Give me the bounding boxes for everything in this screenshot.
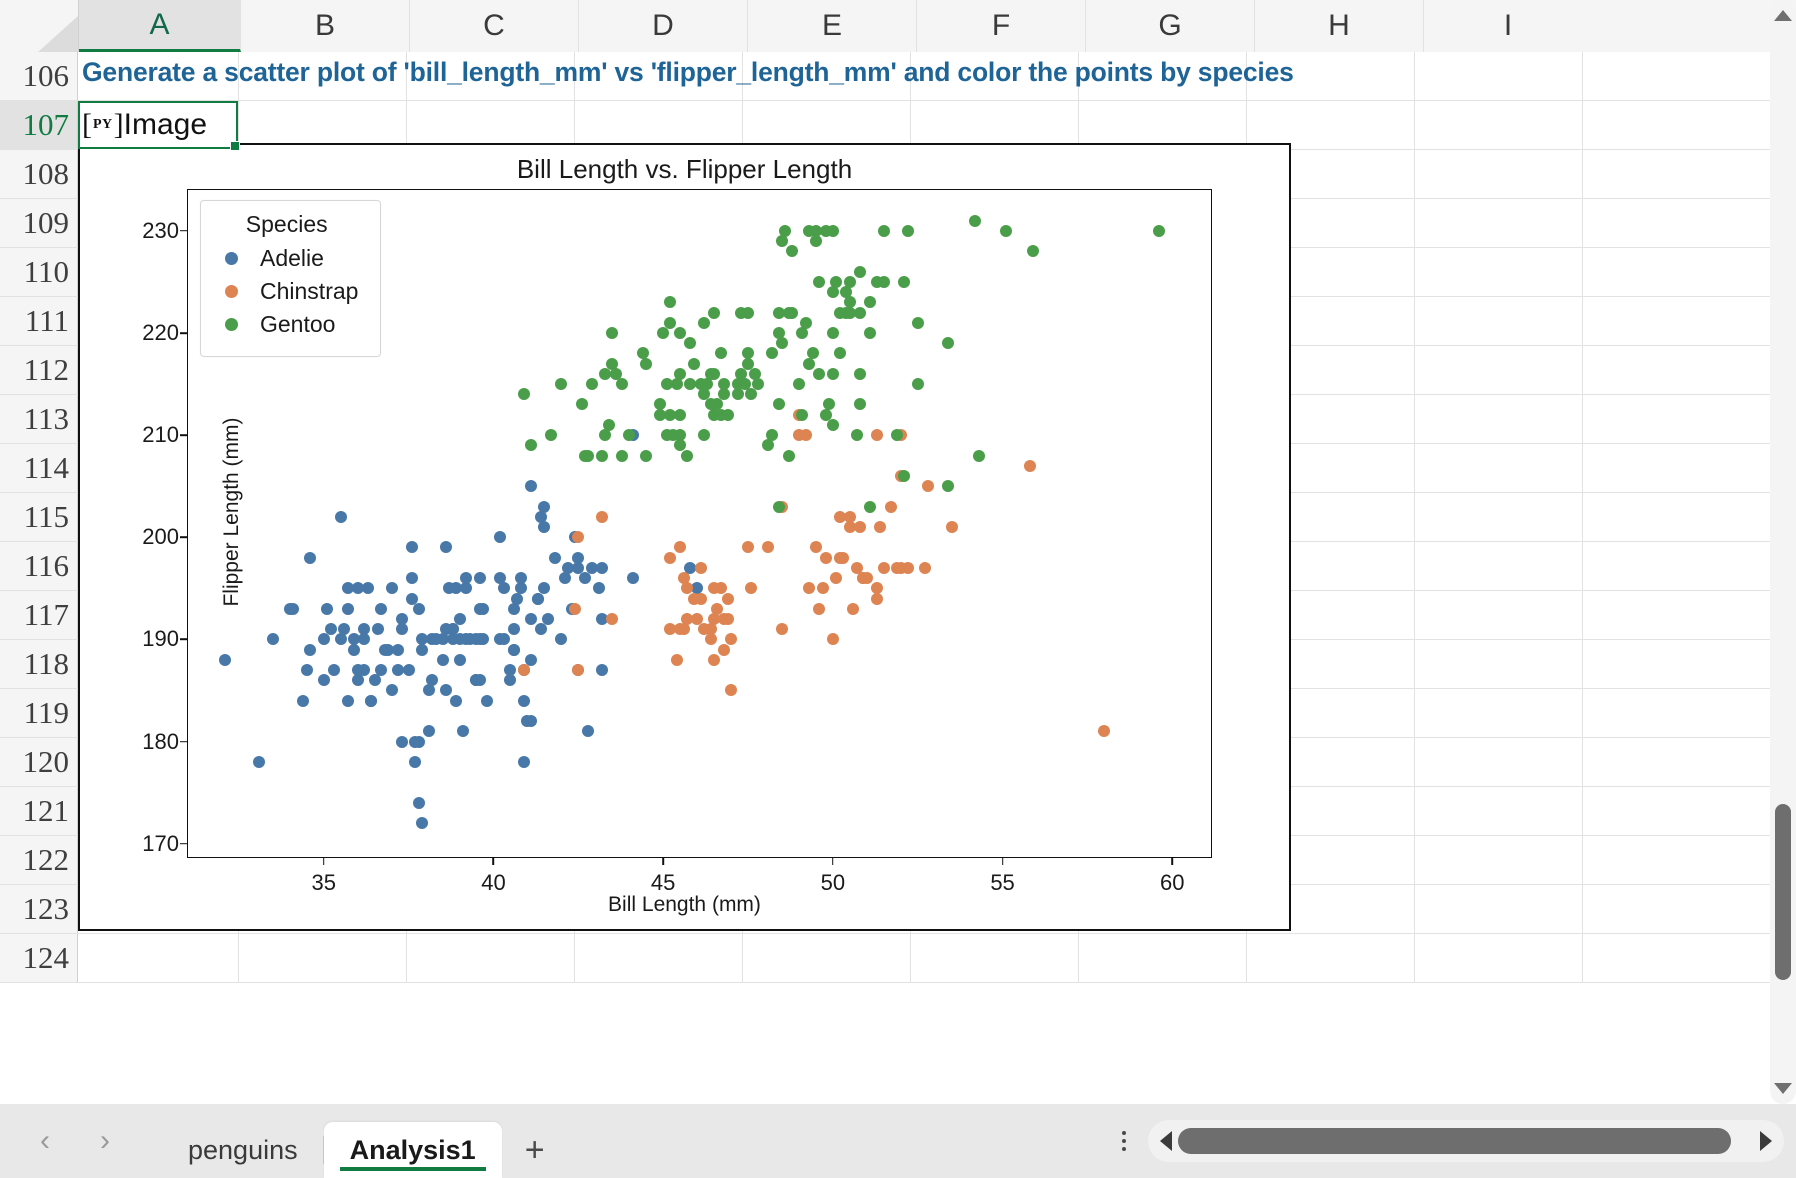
scatter-point-gentoo — [827, 225, 839, 237]
cell-F124[interactable] — [911, 934, 1079, 982]
row-header-108[interactable]: 108 — [0, 150, 78, 198]
row-header-116[interactable]: 116 — [0, 542, 78, 590]
scatter-point-chinstrap — [725, 684, 737, 696]
scatter-point-gentoo — [545, 429, 557, 441]
cell-C124[interactable] — [407, 934, 575, 982]
scatter-point-gentoo — [762, 439, 774, 451]
scatter-point-adelie — [440, 684, 452, 696]
scatter-point-adelie — [538, 501, 550, 513]
cell-I106[interactable] — [1415, 52, 1583, 100]
legend-title: Species — [215, 211, 358, 238]
prev-sheet-arrow-icon[interactable]: ‹ — [30, 1120, 60, 1162]
scatter-point-adelie — [494, 531, 506, 543]
active-tab-underline — [340, 1167, 486, 1171]
scatter-point-chinstrap — [674, 541, 686, 553]
scatter-point-chinstrap — [885, 501, 897, 513]
scatter-point-adelie — [525, 613, 537, 625]
column-header-a[interactable]: A — [79, 0, 241, 52]
scatter-point-gentoo — [827, 286, 839, 298]
cell-H107[interactable] — [1247, 101, 1415, 149]
cell-I112[interactable] — [1415, 346, 1583, 394]
sheet-tab-penguins[interactable]: penguins — [162, 1122, 324, 1178]
scatter-point-chinstrap — [1098, 725, 1110, 737]
column-header-f[interactable]: F — [917, 0, 1086, 52]
scatter-point-gentoo — [902, 225, 914, 237]
scatter-point-chinstrap — [800, 429, 812, 441]
scatter-point-adelie — [582, 725, 594, 737]
scatter-point-gentoo — [586, 378, 598, 390]
row-header-119[interactable]: 119 — [0, 689, 78, 737]
sheet-tab-label: Analysis1 — [350, 1135, 476, 1166]
row-header-117[interactable]: 117 — [0, 591, 78, 639]
scatter-point-gentoo — [776, 337, 788, 349]
scatter-point-gentoo — [773, 501, 785, 513]
scatter-point-adelie — [437, 654, 449, 666]
cell-I109[interactable] — [1415, 199, 1583, 247]
legend-label: Gentoo — [260, 311, 335, 338]
scatter-point-chinstrap — [678, 623, 690, 635]
cell-E124[interactable] — [743, 934, 911, 982]
scatter-point-adelie — [287, 603, 299, 615]
scatter-point-adelie — [477, 633, 489, 645]
scatter-point-gentoo — [623, 429, 635, 441]
bottom-bar-right — [1100, 1104, 1796, 1178]
scatter-point-gentoo — [864, 501, 876, 513]
scatter-point-adelie — [301, 664, 313, 676]
scatter-point-adelie — [409, 756, 421, 768]
sheet-nav-arrows: ‹ › — [0, 1104, 120, 1178]
scatter-point-chinstrap — [817, 582, 829, 594]
y-tick-label: 200 — [142, 524, 179, 550]
sheet-tabs: penguinsAnalysis1 — [162, 1104, 502, 1178]
scatter-point-chinstrap — [606, 613, 618, 625]
scatter-point-chinstrap — [871, 593, 883, 605]
row-header-124[interactable]: 124 — [0, 934, 78, 982]
scroll-up-arrow-icon[interactable] — [1774, 10, 1792, 21]
scatter-point-gentoo — [671, 378, 683, 390]
scatter-point-gentoo — [823, 398, 835, 410]
scatter-point-adelie — [358, 664, 370, 676]
scatter-point-chinstrap — [742, 541, 754, 553]
column-header-c[interactable]: C — [410, 0, 579, 52]
scatter-point-adelie — [549, 552, 561, 564]
column-header-label: H — [1328, 9, 1350, 43]
scatter-point-adelie — [508, 644, 520, 656]
scatter-point-gentoo — [681, 450, 693, 462]
cell-I115[interactable] — [1415, 493, 1583, 541]
y-tick-label: 230 — [142, 218, 179, 244]
scatter-point-adelie — [328, 664, 340, 676]
cell-I110[interactable] — [1415, 248, 1583, 296]
row-header-106[interactable]: 106 — [0, 52, 78, 100]
y-tick-mark — [180, 536, 188, 538]
cell-G107[interactable] — [1079, 101, 1247, 149]
scatter-point-gentoo — [766, 429, 778, 441]
scatter-point-adelie — [348, 644, 360, 656]
scatter-point-gentoo — [722, 409, 734, 421]
scatter-point-adelie — [253, 756, 265, 768]
more-options-icon[interactable] — [1100, 1131, 1148, 1151]
scatter-point-adelie — [352, 674, 364, 686]
scatter-point-gentoo — [616, 450, 628, 462]
scatter-point-gentoo — [912, 378, 924, 390]
scatter-point-adelie — [508, 623, 520, 635]
cell-I117[interactable] — [1415, 591, 1583, 639]
cell-H124[interactable] — [1247, 934, 1415, 982]
scatter-point-gentoo — [582, 450, 594, 462]
scatter-point-chinstrap — [725, 633, 737, 645]
scatter-point-gentoo — [779, 225, 791, 237]
scatter-point-gentoo — [664, 296, 676, 308]
sheet-tab-analysis1[interactable]: Analysis1 — [324, 1122, 502, 1178]
horizontal-scrollbar[interactable] — [1148, 1120, 1784, 1162]
scatter-point-gentoo — [640, 358, 652, 370]
x-tick-mark — [1002, 857, 1004, 865]
badge-py-label: PY — [92, 118, 114, 132]
scatter-point-gentoo — [525, 439, 537, 451]
spreadsheet-app: ABCDEFGHI 106107108109110111112113114115… — [0, 0, 1796, 1178]
scatter-point-adelie — [396, 623, 408, 635]
scatter-point-gentoo — [898, 276, 910, 288]
scatter-point-adelie — [525, 715, 537, 727]
scatter-point-gentoo — [766, 347, 778, 359]
scatter-point-chinstrap — [810, 541, 822, 553]
select-all-triangle-icon — [38, 16, 78, 52]
scatter-point-adelie — [304, 644, 316, 656]
column-header-e[interactable]: E — [748, 0, 917, 52]
scatter-point-adelie — [504, 674, 516, 686]
x-tick-mark — [832, 857, 834, 865]
scatter-point-adelie — [518, 756, 530, 768]
row-header-107[interactable]: 107 — [0, 101, 78, 149]
scatter-point-chinstrap — [664, 552, 676, 564]
scatter-point-gentoo — [813, 368, 825, 380]
scatter-point-adelie — [342, 603, 354, 615]
scatter-point-gentoo — [864, 327, 876, 339]
scatter-point-gentoo — [1027, 245, 1039, 257]
scatter-point-chinstrap — [596, 511, 608, 523]
scatter-point-gentoo — [796, 409, 808, 421]
scatter-point-adelie — [413, 736, 425, 748]
scatter-point-adelie — [413, 797, 425, 809]
row-header-111[interactable]: 111 — [0, 297, 78, 345]
cell-B124[interactable] — [239, 934, 407, 982]
scatter-point-adelie — [498, 633, 510, 645]
scatter-point-gentoo — [851, 429, 863, 441]
scatter-point-gentoo — [786, 245, 798, 257]
row-header-110[interactable]: 110 — [0, 248, 78, 296]
scatter-point-chinstrap — [946, 521, 958, 533]
row-header-109[interactable]: 109 — [0, 199, 78, 247]
scatter-point-gentoo — [688, 358, 700, 370]
scatter-point-gentoo — [834, 347, 846, 359]
y-tick-mark — [180, 332, 188, 334]
scatter-point-adelie — [403, 664, 415, 676]
scatter-point-chinstrap — [695, 593, 707, 605]
scatter-point-gentoo — [732, 388, 744, 400]
column-header-label: I — [1504, 9, 1512, 43]
row-header-113[interactable]: 113 — [0, 395, 78, 443]
scatter-point-gentoo — [715, 347, 727, 359]
scatter-point-chinstrap — [572, 664, 584, 676]
cell-a106-prompt-text[interactable]: Generate a scatter plot of 'bill_length_… — [82, 57, 1294, 88]
column-header-b[interactable]: B — [241, 0, 410, 52]
row-header-114[interactable]: 114 — [0, 444, 78, 492]
scatter-point-chinstrap — [830, 572, 842, 584]
cell-I124[interactable] — [1415, 934, 1583, 982]
scatter-point-adelie — [572, 552, 584, 564]
scatter-point-gentoo — [969, 215, 981, 227]
badge-bracket-close: ] — [114, 110, 124, 140]
column-header-label: E — [822, 9, 842, 43]
scatter-point-gentoo — [701, 378, 713, 390]
legend-label: Chinstrap — [260, 278, 358, 305]
cell-a107-selected[interactable]: [PY] Image — [78, 101, 238, 149]
scatter-point-adelie — [627, 572, 639, 584]
scatter-point-chinstrap — [820, 552, 832, 564]
scatter-point-adelie — [325, 623, 337, 635]
x-tick-mark — [323, 857, 325, 865]
horizontal-scrollbar-thumb[interactable] — [1178, 1128, 1731, 1154]
scatter-point-adelie — [440, 541, 452, 553]
y-tick-mark — [180, 434, 188, 436]
column-header-label: D — [652, 9, 674, 43]
chart-legend: Species AdelieChinstrapGentoo — [200, 200, 381, 357]
scatter-point-gentoo — [698, 429, 710, 441]
column-header-i[interactable]: I — [1424, 0, 1592, 52]
legend-label: Adelie — [260, 245, 324, 272]
scatter-point-adelie — [318, 633, 330, 645]
scatter-point-chinstrap — [569, 603, 581, 615]
scatter-point-adelie — [369, 674, 381, 686]
scatter-point-chinstrap — [803, 582, 815, 594]
scatter-point-chinstrap — [1024, 460, 1036, 472]
scatter-point-chinstrap — [827, 633, 839, 645]
column-header-h[interactable]: H — [1255, 0, 1424, 52]
sheet-tab-bar: ‹ › penguinsAnalysis1 + — [0, 1104, 1796, 1178]
scatter-point-gentoo — [942, 337, 954, 349]
cell-I113[interactable] — [1415, 395, 1583, 443]
fill-handle[interactable] — [230, 141, 240, 151]
scatter-point-adelie — [579, 572, 591, 584]
cell-B107[interactable] — [239, 101, 407, 149]
scatter-point-gentoo — [854, 368, 866, 380]
scatter-point-adelie — [457, 725, 469, 737]
scatter-point-gentoo — [854, 398, 866, 410]
row-header-115[interactable]: 115 — [0, 493, 78, 541]
scatter-point-chinstrap — [847, 603, 859, 615]
scatter-point-gentoo — [555, 378, 567, 390]
scatter-point-chinstrap — [572, 531, 584, 543]
cell-F107[interactable] — [911, 101, 1079, 149]
row-header-112[interactable]: 112 — [0, 346, 78, 394]
scatter-point-adelie — [338, 623, 350, 635]
scatter-point-gentoo — [616, 378, 628, 390]
scatter-point-adelie — [396, 736, 408, 748]
scatter-point-adelie — [297, 695, 309, 707]
scatter-point-gentoo — [718, 388, 730, 400]
scatter-point-gentoo — [657, 327, 669, 339]
scatter-point-chinstrap — [874, 521, 886, 533]
row-header-123[interactable]: 123 — [0, 885, 78, 933]
cell-I119[interactable] — [1415, 689, 1583, 737]
scatter-point-gentoo — [827, 419, 839, 431]
scatter-point-adelie — [515, 572, 527, 584]
scatter-point-adelie — [335, 633, 347, 645]
scatter-point-adelie — [454, 654, 466, 666]
scatter-point-gentoo — [640, 450, 652, 462]
scatter-point-chinstrap — [518, 664, 530, 676]
scatter-point-gentoo — [810, 235, 822, 247]
cell-A124[interactable] — [78, 934, 239, 982]
x-tick-mark — [662, 857, 664, 865]
scatter-point-adelie — [426, 674, 438, 686]
column-header-label: B — [315, 9, 335, 43]
cell-D107[interactable] — [575, 101, 743, 149]
scatter-point-adelie — [423, 725, 435, 737]
scatter-point-adelie — [318, 674, 330, 686]
y-tick-mark — [180, 230, 188, 232]
scatter-point-gentoo — [827, 368, 839, 380]
scatter-point-adelie — [375, 603, 387, 615]
y-tick-label: 170 — [142, 831, 179, 857]
scatter-point-gentoo — [891, 429, 903, 441]
scatter-point-adelie — [518, 695, 530, 707]
row-header-120[interactable]: 120 — [0, 738, 78, 786]
scroll-down-arrow-icon[interactable] — [1774, 1083, 1792, 1094]
scatter-point-adelie — [559, 572, 571, 584]
add-sheet-button[interactable]: + — [502, 1122, 568, 1178]
scatter-point-adelie — [481, 695, 493, 707]
scatter-point-gentoo — [878, 225, 890, 237]
scatter-point-adelie — [423, 684, 435, 696]
scatter-point-chinstrap — [678, 572, 690, 584]
legend-marker-icon — [225, 318, 238, 331]
y-tick-mark — [180, 843, 188, 845]
horizontal-scrollbar-track[interactable] — [1178, 1128, 1754, 1154]
scatter-point-chinstrap — [722, 613, 734, 625]
column-header-d[interactable]: D — [579, 0, 748, 52]
column-header-row: ABCDEFGHI — [0, 0, 1796, 53]
scatter-point-chinstrap — [837, 552, 849, 564]
y-tick-mark — [180, 741, 188, 743]
scatter-point-adelie — [508, 603, 520, 615]
cell-I123[interactable] — [1415, 885, 1583, 933]
scatter-point-adelie — [372, 623, 384, 635]
scatter-point-gentoo — [844, 276, 856, 288]
cell-I116[interactable] — [1415, 542, 1583, 590]
row-header-118[interactable]: 118 — [0, 640, 78, 688]
sheet-tab-label: penguins — [188, 1135, 298, 1166]
cell-I108[interactable] — [1415, 150, 1583, 198]
scatter-point-gentoo — [708, 368, 720, 380]
scatter-point-gentoo — [786, 307, 798, 319]
row-header-122[interactable]: 122 — [0, 836, 78, 884]
scatter-point-adelie — [460, 582, 472, 594]
cell-I118[interactable] — [1415, 640, 1583, 688]
select-all-corner[interactable] — [0, 0, 79, 52]
cell-I111[interactable] — [1415, 297, 1583, 345]
cell-G124[interactable] — [1079, 934, 1247, 982]
scatter-point-gentoo — [830, 276, 842, 288]
scatter-point-adelie — [511, 593, 523, 605]
column-header-label: C — [483, 9, 505, 43]
scatter-point-gentoo — [827, 327, 839, 339]
cell-I120[interactable] — [1415, 738, 1583, 786]
scatter-point-adelie — [454, 613, 466, 625]
cell-a107-value: Image — [124, 108, 207, 142]
badge-bracket-open: [ — [82, 110, 92, 140]
scatter-point-gentoo — [796, 327, 808, 339]
scatter-point-gentoo — [878, 276, 890, 288]
scroll-left-arrow-icon[interactable] — [1160, 1131, 1172, 1151]
legend-entry: Gentoo — [215, 311, 358, 338]
scatter-point-chinstrap — [776, 623, 788, 635]
legend-entry: Chinstrap — [215, 278, 358, 305]
column-header-label: G — [1158, 9, 1181, 43]
cell-I107[interactable] — [1415, 101, 1583, 149]
chart-image-object[interactable]: Bill Length vs. Flipper Length Flipper L… — [78, 143, 1291, 931]
scatter-point-chinstrap — [708, 654, 720, 666]
scatter-point-gentoo — [674, 327, 686, 339]
scatter-point-adelie — [450, 695, 462, 707]
scatter-point-chinstrap — [871, 429, 883, 441]
scatter-point-gentoo — [1153, 225, 1165, 237]
next-sheet-arrow-icon[interactable]: › — [90, 1120, 120, 1162]
row-header-121[interactable]: 121 — [0, 787, 78, 835]
scatter-point-gentoo — [783, 450, 795, 462]
vertical-scrollbar[interactable] — [1770, 0, 1796, 1104]
scatter-point-chinstrap — [745, 582, 757, 594]
scatter-point-adelie — [304, 552, 316, 564]
scatter-point-gentoo — [854, 266, 866, 278]
grid-row: 124 — [0, 934, 1796, 983]
cell-E107[interactable] — [743, 101, 911, 149]
x-axis-label: Bill Length (mm) — [80, 893, 1289, 917]
x-tick-mark — [1171, 857, 1173, 865]
column-header-g[interactable]: G — [1086, 0, 1255, 52]
scatter-point-gentoo — [803, 358, 815, 370]
scatter-point-adelie — [362, 582, 374, 594]
scatter-point-gentoo — [745, 388, 757, 400]
plot-area: Flipper Length (mm) 17018019020021022023… — [187, 189, 1212, 858]
vertical-scrollbar-thumb[interactable] — [1775, 804, 1791, 980]
scatter-point-gentoo — [708, 307, 720, 319]
scatter-point-chinstrap — [861, 572, 873, 584]
scatter-point-gentoo — [807, 347, 819, 359]
scatter-point-adelie — [542, 613, 554, 625]
scatter-point-adelie — [596, 664, 608, 676]
scatter-point-gentoo — [776, 235, 788, 247]
scatter-point-gentoo — [973, 450, 985, 462]
scatter-point-gentoo — [518, 388, 530, 400]
scatter-point-chinstrap — [922, 480, 934, 492]
cell-I121[interactable] — [1415, 787, 1583, 835]
scatter-point-adelie — [535, 623, 547, 635]
legend-marker-icon — [225, 252, 238, 265]
scatter-point-chinstrap — [722, 593, 734, 605]
scatter-point-adelie — [375, 664, 387, 676]
y-tick-label: 210 — [142, 422, 179, 448]
cell-D124[interactable] — [575, 934, 743, 982]
cell-I114[interactable] — [1415, 444, 1583, 492]
scroll-right-arrow-icon[interactable] — [1760, 1131, 1772, 1151]
scatter-point-adelie — [406, 572, 418, 584]
y-axis-label: Flipper Length (mm) — [220, 382, 244, 642]
cell-I122[interactable] — [1415, 836, 1583, 884]
scatter-point-adelie — [413, 603, 425, 615]
cell-C107[interactable] — [407, 101, 575, 149]
